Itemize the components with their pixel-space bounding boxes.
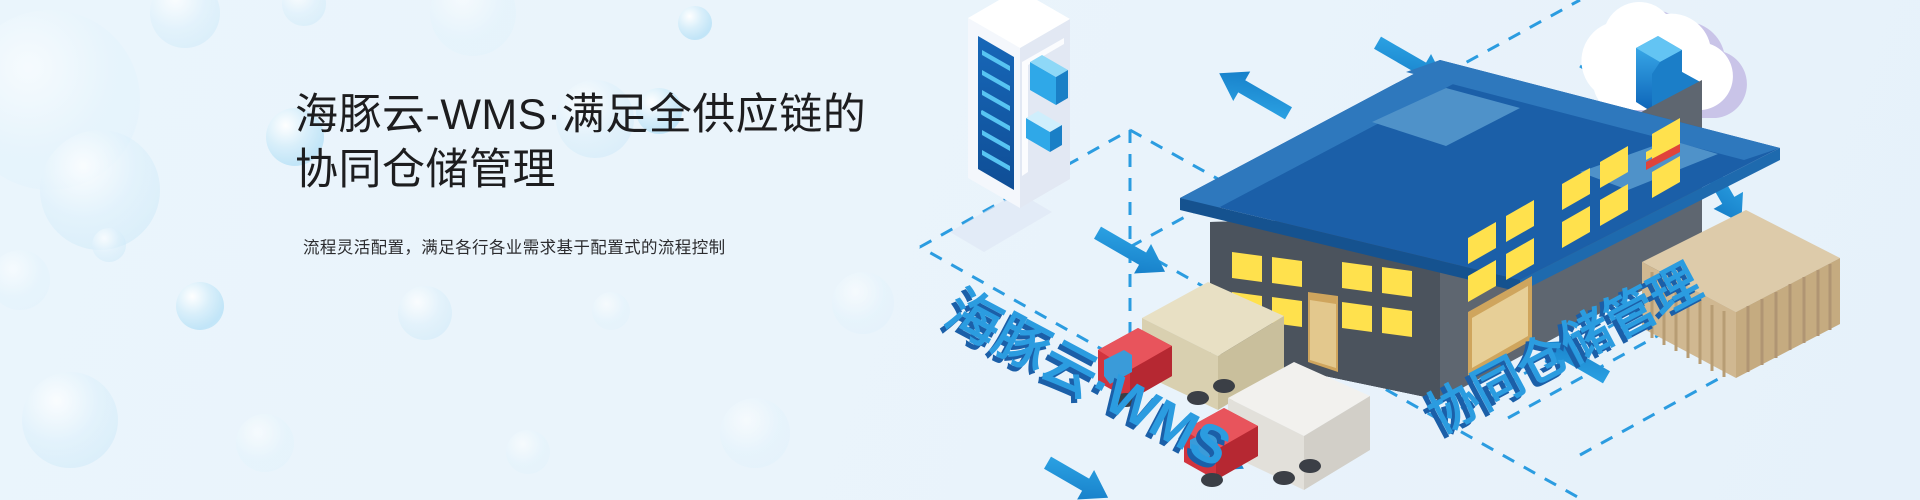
page-title: 海豚云-WMS·满足全供应链的 协同仓储管理 [295,88,895,198]
server-rack-icon [950,0,1070,252]
bubble-icon [506,430,550,474]
bubble-icon [40,130,160,250]
bubble-icon [592,292,630,330]
bubble-icon [0,10,140,190]
hero-text-block: 海豚云-WMS·满足全供应链的 协同仓储管理 流程灵活配置，满足各行各业需求基于… [295,88,895,258]
bubble-icon [0,250,50,310]
bubble-icon [430,0,516,56]
bubble-icon [22,372,118,468]
wms-hero-banner: 海豚云-WMS·满足全供应链的 协同仓储管理 流程灵活配置，满足各行各业需求基于… [0,0,1920,500]
bubble-icon [92,228,126,262]
bubble-icon [236,414,294,472]
bubble-icon [398,286,452,340]
warehouse-illustration: 海豚云·WMS 海豚云·WMS 协同仓储管理 协同仓储管理 [880,0,1920,500]
bubble-icon [282,0,326,26]
bubble-icon [720,398,790,468]
bubble-icon [176,282,224,330]
page-subtitle: 流程灵活配置，满足各行各业需求基于配置式的流程控制 [303,234,895,258]
bubble-icon [150,0,220,48]
bubble-icon [678,6,712,40]
